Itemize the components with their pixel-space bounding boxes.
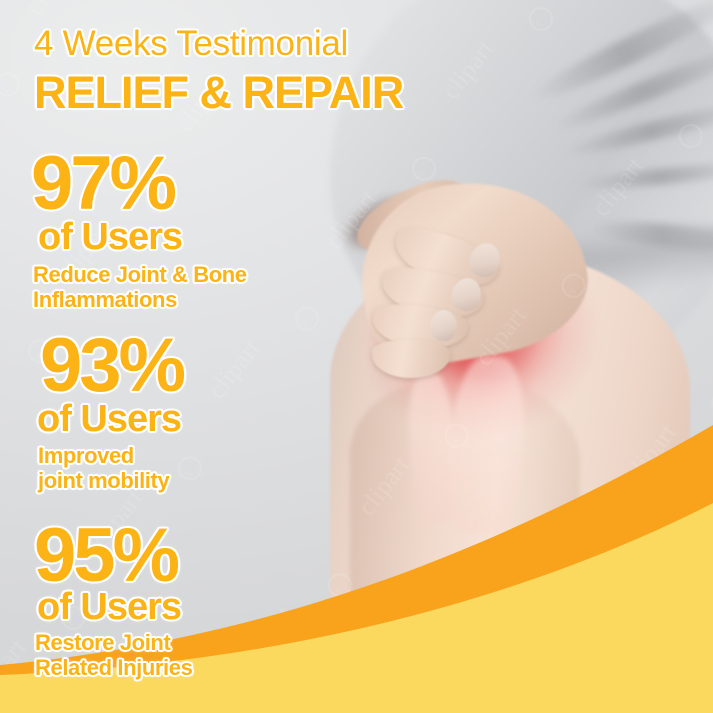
stat-detail-line-2: joint mobility: [38, 468, 169, 493]
testimonial-poster: clipart c 4 Weeks Testimonial RELIEF & R…: [0, 0, 713, 713]
stat-detail-2: Improvedjoint mobility: [38, 443, 169, 494]
stat-detail-3: Restore JointRelated Injuries: [35, 630, 192, 681]
stat-detail-line-1: Improved: [38, 443, 134, 468]
stat-detail-line-1: Restore Joint: [35, 630, 170, 655]
stat-users-label-3: of Users: [37, 588, 181, 626]
stat-detail-line-2: Related Injuries: [35, 655, 192, 680]
stat-users-label-1: of Users: [38, 218, 182, 256]
stat-detail-line-1: Reduce Joint & Bone: [33, 262, 247, 287]
stat-detail-line-2: Inflammations: [33, 287, 177, 312]
stat-users-label-2: of Users: [37, 400, 181, 438]
stat-percent-2: 93%: [40, 328, 183, 404]
page-title: RELIEF & REPAIR: [34, 70, 403, 115]
kicker-text: 4 Weeks Testimonial: [34, 26, 348, 61]
stat-detail-1: Reduce Joint & BoneInflammations: [33, 262, 247, 313]
stat-percent-1: 97%: [31, 146, 174, 222]
stat-percent-3: 95%: [34, 518, 177, 594]
